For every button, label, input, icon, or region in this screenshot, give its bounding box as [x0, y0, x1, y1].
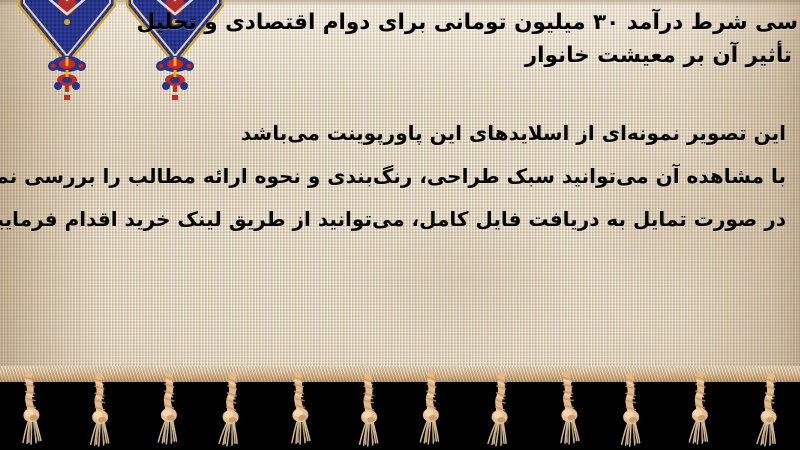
fringe-tassel: [485, 372, 515, 447]
fringe-tassel: [16, 370, 46, 445]
fringe-tassel: [285, 370, 315, 445]
fringe-tassel: [86, 373, 113, 447]
fringe-tassel: [618, 373, 645, 447]
slide-body-text: این تصویر نمونه‌ای از اسلایدهای این پاور…: [14, 112, 786, 241]
carpet-pendant-icon: [152, 55, 198, 105]
body-line-2: با مشاهده آن می‌توانید سبک طراحی، رنگ‌بن…: [14, 155, 786, 198]
slide-canvas: سی شرط درآمد ۳۰ میلیون تومانی برای دوام …: [0, 0, 800, 450]
slide-title: سی شرط درآمد ۳۰ میلیون تومانی برای دوام …: [232, 6, 792, 72]
fringe-tassel: [155, 371, 182, 445]
fringe-tassel: [355, 373, 382, 447]
carpet-fringe-band: [0, 366, 800, 450]
fringe-tassel: [554, 370, 584, 445]
body-line-3: در صورت تمایل به دریافت فایل کامل، می‌تو…: [14, 198, 786, 241]
fringe-tassel: [686, 371, 713, 445]
fringe-tassel: [216, 372, 246, 447]
body-line-1: این تصویر نمونه‌ای از اسلایدهای این پاور…: [14, 112, 786, 155]
fringe-tassel: [754, 372, 784, 447]
title-line-1: سی شرط درآمد ۳۰ میلیون تومانی برای دوام …: [232, 6, 798, 39]
fringe-tassel: [418, 371, 445, 445]
carpet-pendant-icon: [44, 55, 90, 105]
title-line-2: تأثیر آن بر معیشت خانوار: [232, 39, 792, 72]
fringe-selvedge: [0, 366, 800, 382]
